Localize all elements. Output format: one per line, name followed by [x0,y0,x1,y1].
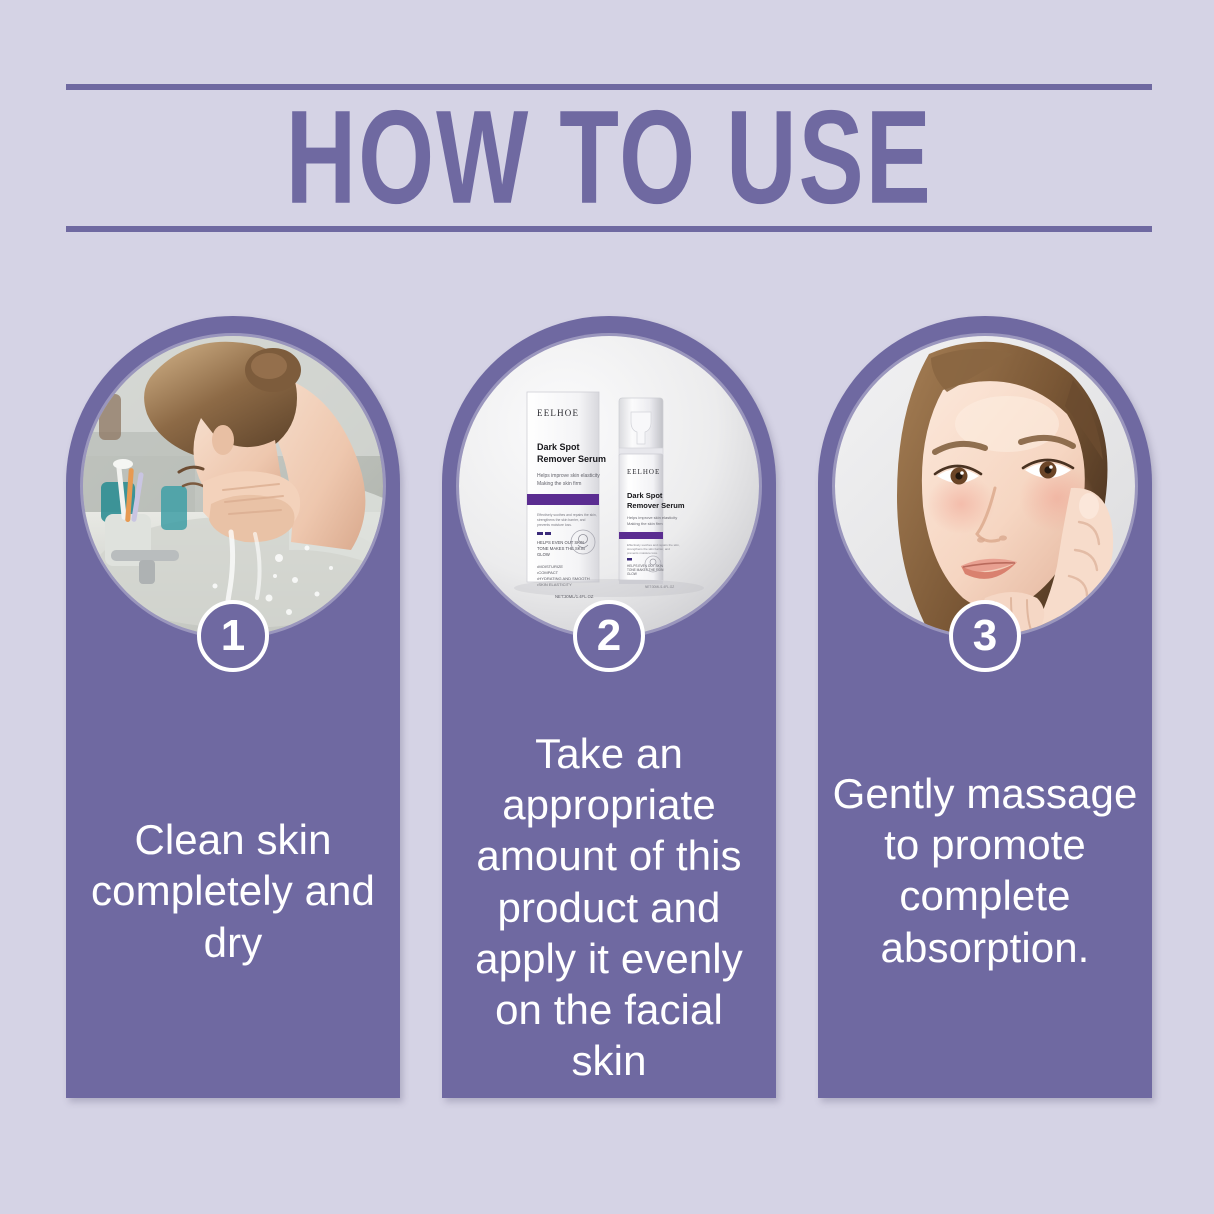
step-card-3: 3 Gently massage to promote complete abs… [818,316,1152,1098]
page-title-text: HOW TO USE [285,91,932,224]
svg-text:EELHOE: EELHOE [627,468,660,476]
svg-text:prevents moisture loss.: prevents moisture loss. [627,551,658,555]
svg-text:Making the skin firm: Making the skin firm [627,521,663,526]
step-number-badge: 3 [949,600,1021,672]
header-rule-bottom [66,226,1152,232]
svg-text:Helps improve skin elasticity: Helps improve skin elasticity [627,515,677,520]
step-number-badge: 2 [573,600,645,672]
step-caption: Take an appropriate amount of this produ… [454,706,764,1076]
svg-text:•MOISTURIZE: •MOISTURIZE [537,564,563,569]
step-number: 1 [221,614,245,658]
svg-text:Making the skin firm: Making the skin firm [537,481,581,487]
step-caption: Clean skin completely and dry [78,706,388,1076]
page-title: HOW TO USE [66,106,1152,210]
steps-row: 1 Clean skin completely and dry [66,316,1152,1098]
svg-text:prevents moisture loss.: prevents moisture loss. [537,523,572,527]
svg-text:GLOW: GLOW [537,552,550,557]
svg-text:Helps improve skin elasticity: Helps improve skin elasticity [537,473,600,479]
step-caption: Gently massage to promote complete absor… [830,706,1140,1076]
step-number-badge: 1 [197,600,269,672]
svg-text:strengthens the skin barrier,: strengthens the skin barrier, and [537,518,586,522]
svg-text:EELHOE: EELHOE [537,408,579,418]
svg-text:Effectively soothes and repair: Effectively soothes and repairs the skin… [537,513,597,517]
page-header: HOW TO USE [66,84,1152,232]
svg-text:TONE MAKES THE SKIN: TONE MAKES THE SKIN [537,546,585,551]
svg-text:Dark Spot: Dark Spot [627,491,663,500]
svg-text:HELPS EVEN OUT SKIN: HELPS EVEN OUT SKIN [537,540,584,545]
svg-text:Remover Serum: Remover Serum [627,501,685,510]
svg-text:•COMPACT: •COMPACT [537,570,559,575]
product-packshot-photo: EELHOE Dark Spot Remover Serum Helps imp… [459,336,759,636]
woman-touching-cheek-photo [835,336,1135,636]
step-number: 3 [973,614,997,658]
woman-washing-face-photo [83,336,383,636]
svg-text:GLOW: GLOW [627,572,637,576]
step-number: 2 [597,614,621,658]
svg-text:Dark Spot: Dark Spot [537,442,580,452]
step-card-1: 1 Clean skin completely and dry [66,316,400,1098]
svg-text:Remover Serum: Remover Serum [537,454,606,464]
step-card-2: EELHOE Dark Spot Remover Serum Helps imp… [442,316,776,1098]
